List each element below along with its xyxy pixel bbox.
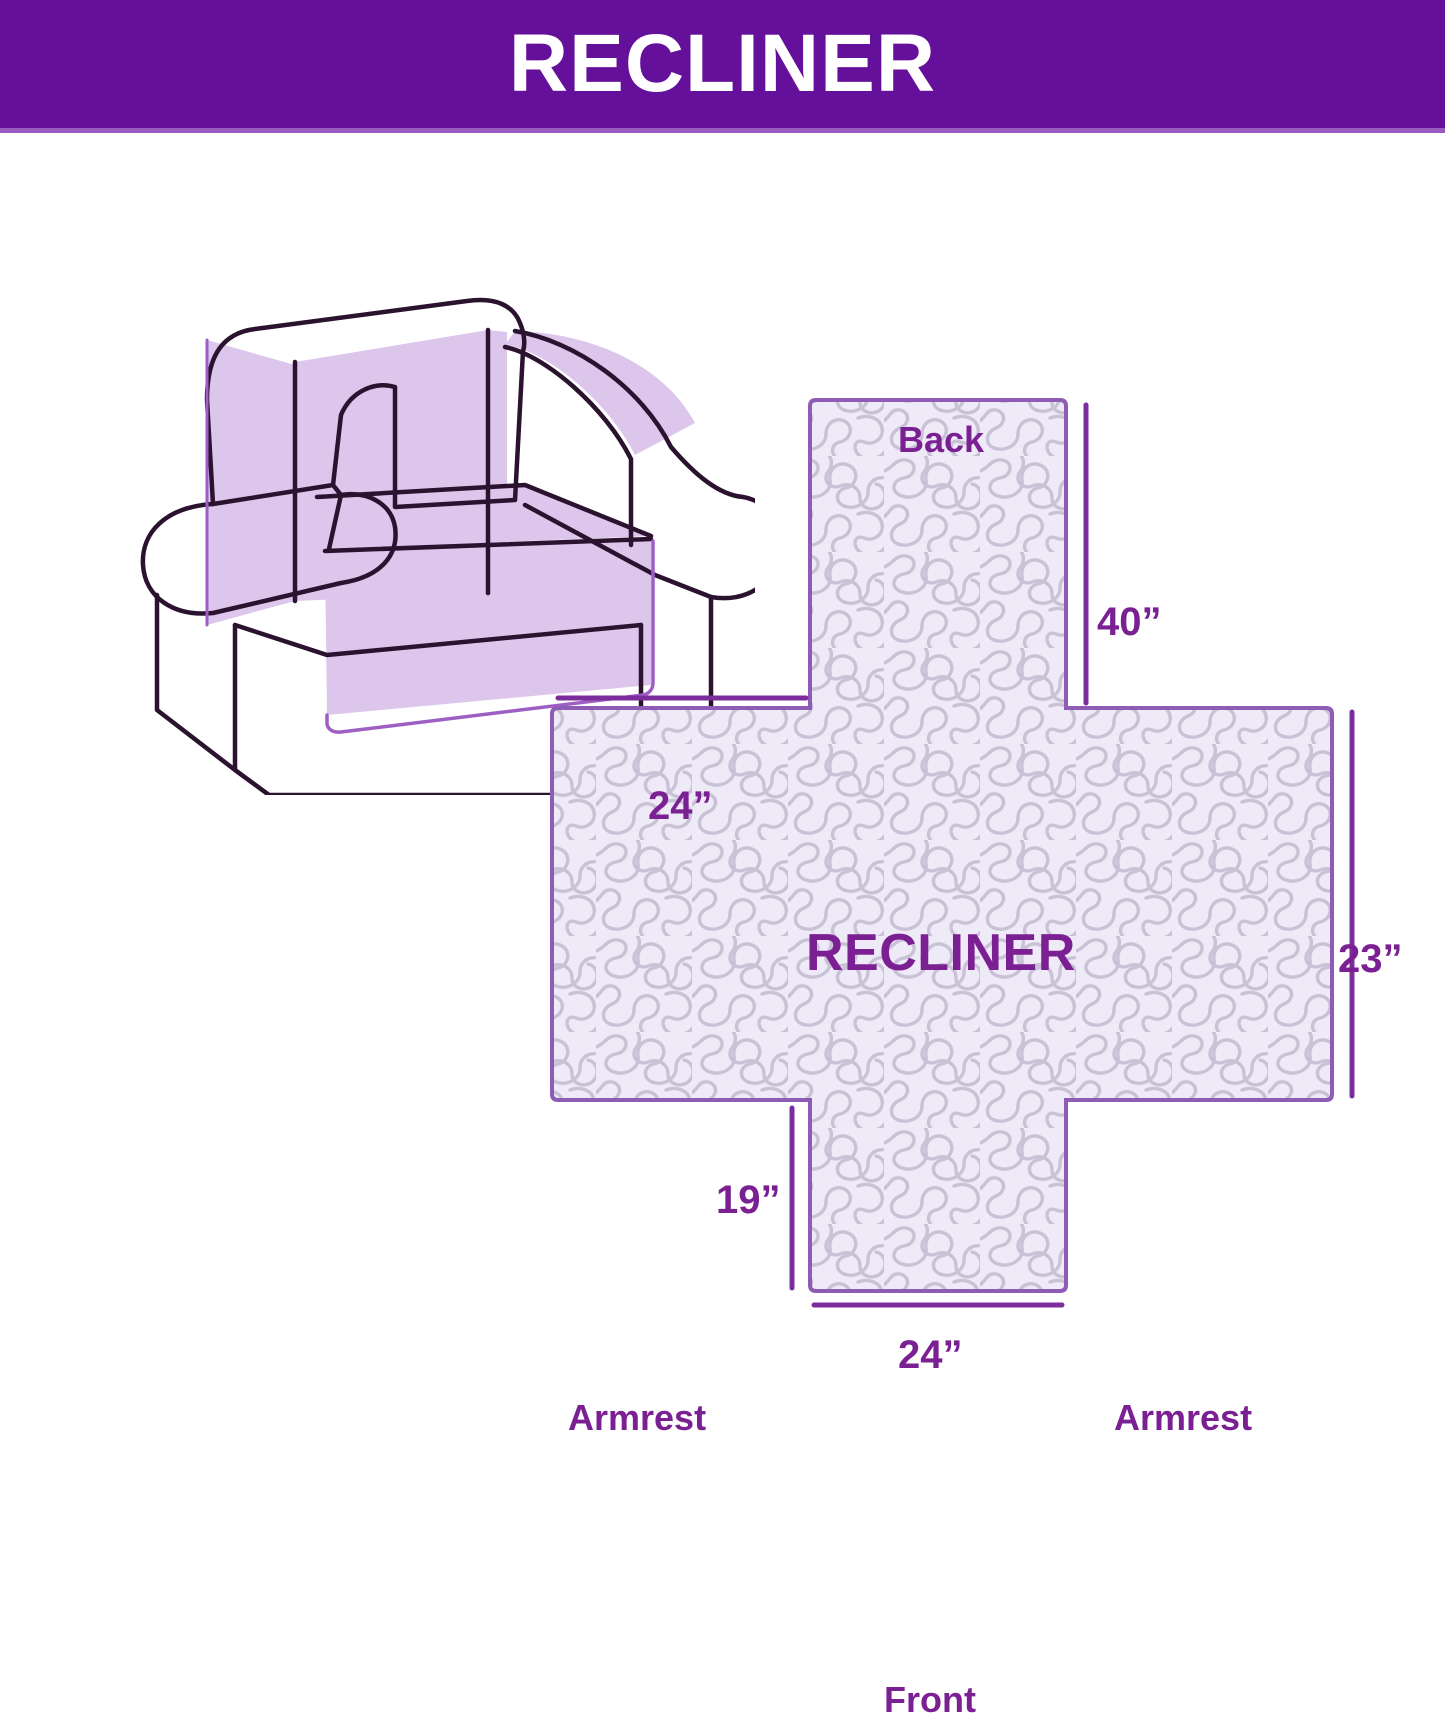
dimension-label-front-width: 24”	[898, 1335, 963, 1375]
dimension-label-front-height: 19”	[716, 1180, 781, 1220]
slipcover-cross-shape	[552, 400, 1332, 1291]
header-underline-divider	[0, 128, 1445, 133]
dimension-label-armrest-height: 23”	[1338, 939, 1403, 979]
panel-label-armrest-right: Armrest	[1114, 1400, 1252, 1436]
slipcover-cross-svg	[500, 360, 1445, 1405]
page-title: RECLINER	[509, 23, 936, 105]
chair-back-cover-fill	[207, 340, 295, 625]
header-banner: RECLINER	[0, 0, 1445, 128]
panel-label-armrest-left: Armrest	[568, 1400, 706, 1436]
slipcover-cross-diagram: Back Armrest Armrest Front RECLINER 40” …	[500, 360, 1445, 1405]
diagram-center-label: RECLINER	[806, 927, 1076, 979]
dimension-label-back-height: 40”	[1097, 602, 1162, 642]
panel-label-back: Back	[898, 422, 984, 458]
chair-left-body-side	[157, 595, 235, 770]
panel-label-front: Front	[884, 1682, 976, 1718]
dimension-label-armrest-span-top: 24”	[648, 786, 713, 826]
